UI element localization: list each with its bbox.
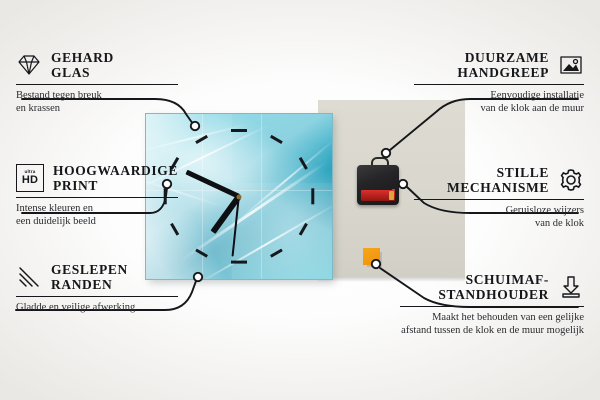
feature-title-2: RANDEN: [51, 277, 128, 292]
feature-title-2: STANDHOUDER: [438, 287, 549, 302]
gear-icon: [558, 167, 584, 193]
battery: [361, 190, 395, 201]
feature-desc: Gladde en veilige afwerking: [16, 302, 186, 315]
ultra-hd-icon: ultra HD: [16, 164, 44, 192]
feature-title: DUURZAME: [457, 50, 549, 65]
diamond-icon: [16, 52, 42, 78]
feature-desc-2: van de klok: [414, 218, 584, 231]
divider: [16, 84, 178, 85]
feature-desc-2: een duidelijk beeld: [16, 216, 186, 229]
clock-hub: [237, 194, 242, 199]
feature-geslepen-randen: GESLEPEN RANDEN Gladde en veilige afwerk…: [16, 262, 186, 315]
clock-tick: [231, 129, 247, 132]
feature-title-2: HANDGREEP: [457, 65, 549, 80]
feature-title: GEHARD: [51, 50, 114, 65]
divider: [16, 197, 178, 198]
clock-tick: [270, 135, 283, 144]
feature-desc-2: afstand tussen de klok en de muur mogeli…: [400, 325, 584, 338]
feature-desc: Geruisloze wijzers: [414, 205, 584, 218]
feature-title: SCHUIMAF-: [438, 272, 549, 287]
divider: [16, 296, 178, 297]
feature-desc: Bestand tegen breuk: [16, 90, 186, 103]
feature-hoogwaardige-print: ultra HD HOOGWAARDIGE PRINT Intense kleu…: [16, 163, 186, 228]
arrow-down-stack-icon: [558, 274, 584, 300]
feature-desc: Eenvoudige installatie: [414, 90, 584, 103]
feature-title-2: MECHANISME: [447, 180, 549, 195]
foam-spacer: [363, 248, 380, 265]
feature-title: GESLEPEN: [51, 262, 128, 277]
ultra-hd-big-label: HD: [22, 175, 38, 186]
feature-title-2: GLAS: [51, 65, 114, 80]
feature-stille-mechanisme: STILLE MECHANISME Geruisloze wijzers van…: [414, 165, 584, 230]
infographic-canvas: GEHARD GLAS Bestand tegen breuk en krass…: [0, 0, 600, 400]
feature-gehard-glas: GEHARD GLAS Bestand tegen breuk en krass…: [16, 50, 186, 115]
feature-duurzame-handgreep: DUURZAME HANDGREEP Eenvoudige installati…: [414, 50, 584, 115]
framed-picture-icon: [558, 52, 584, 78]
feature-desc: Maakt het behouden van een gelijke: [400, 312, 584, 325]
feature-title-2: PRINT: [53, 178, 178, 193]
feature-schuimaf-standhouder: SCHUIMAF- STANDHOUDER Maakt het behouden…: [400, 272, 584, 337]
bevelled-edges-icon: [16, 264, 42, 290]
clock-tick: [231, 261, 247, 264]
feature-desc: Intense kleuren en: [16, 203, 186, 216]
feature-desc-2: en krassen: [16, 103, 186, 116]
feature-title: STILLE: [447, 165, 549, 180]
feature-desc-2: van de klok aan de muur: [414, 103, 584, 116]
divider: [414, 199, 584, 200]
divider: [400, 306, 584, 307]
divider: [414, 84, 584, 85]
feature-title: HOOGWAARDIGE: [53, 163, 178, 178]
